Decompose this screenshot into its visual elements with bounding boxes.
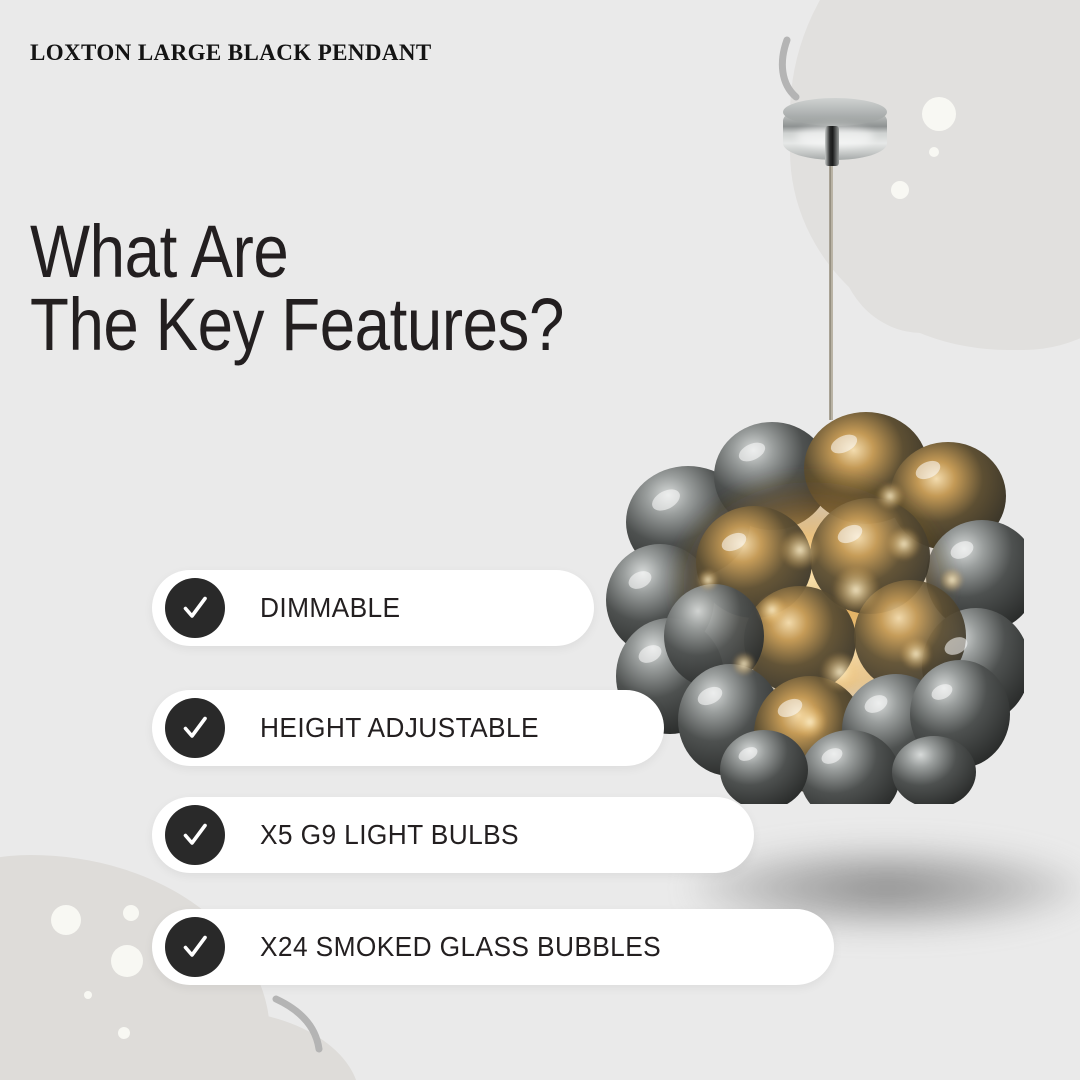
feature-pill-label: DIMMABLE (260, 592, 400, 624)
check-icon (165, 805, 225, 865)
decor-dot (118, 1027, 130, 1039)
decor-dot (922, 97, 956, 131)
check-icon (165, 917, 225, 977)
feature-pill-label: X24 SMOKED GLASS BUBBLES (260, 931, 661, 963)
feature-pill-label: X5 G9 LIGHT BULBS (260, 819, 519, 851)
blob-bottom-left-secondary (60, 1010, 360, 1080)
check-icon (165, 698, 225, 758)
ceiling-rose-body (783, 104, 887, 160)
feature-graphic-canvas: LOXTON LARGE BLACK PENDANT What Are The … (0, 0, 1080, 1080)
suspension-cable (829, 162, 833, 420)
feature-pill[interactable]: HEIGHT ADJUSTABLE (152, 690, 664, 766)
decor-dot (929, 147, 939, 157)
page-title: What Are The Key Features? (30, 216, 564, 361)
ceiling-rose-highlight (796, 126, 874, 148)
check-icon (165, 578, 225, 638)
feature-pill[interactable]: X24 SMOKED GLASS BUBBLES (152, 909, 834, 985)
decor-dot (51, 905, 81, 935)
product-name-kicker: LOXTON LARGE BLACK PENDANT (30, 40, 432, 66)
decor-dot (84, 991, 92, 999)
decor-dot (111, 945, 143, 977)
blob-top-right (790, 0, 1080, 350)
feature-pill[interactable]: DIMMABLE (152, 570, 594, 646)
decor-dot (891, 181, 909, 199)
blob-top-right-secondary (838, 158, 988, 333)
feature-pill[interactable]: X5 G9 LIGHT BULBS (152, 797, 754, 873)
ceiling-rose-top (783, 98, 887, 126)
decor-dot (123, 905, 139, 921)
ceiling-rose-connector (825, 126, 839, 166)
feature-pill-label: HEIGHT ADJUSTABLE (260, 712, 539, 744)
smoked-glass-bubble-cluster (604, 404, 1024, 804)
